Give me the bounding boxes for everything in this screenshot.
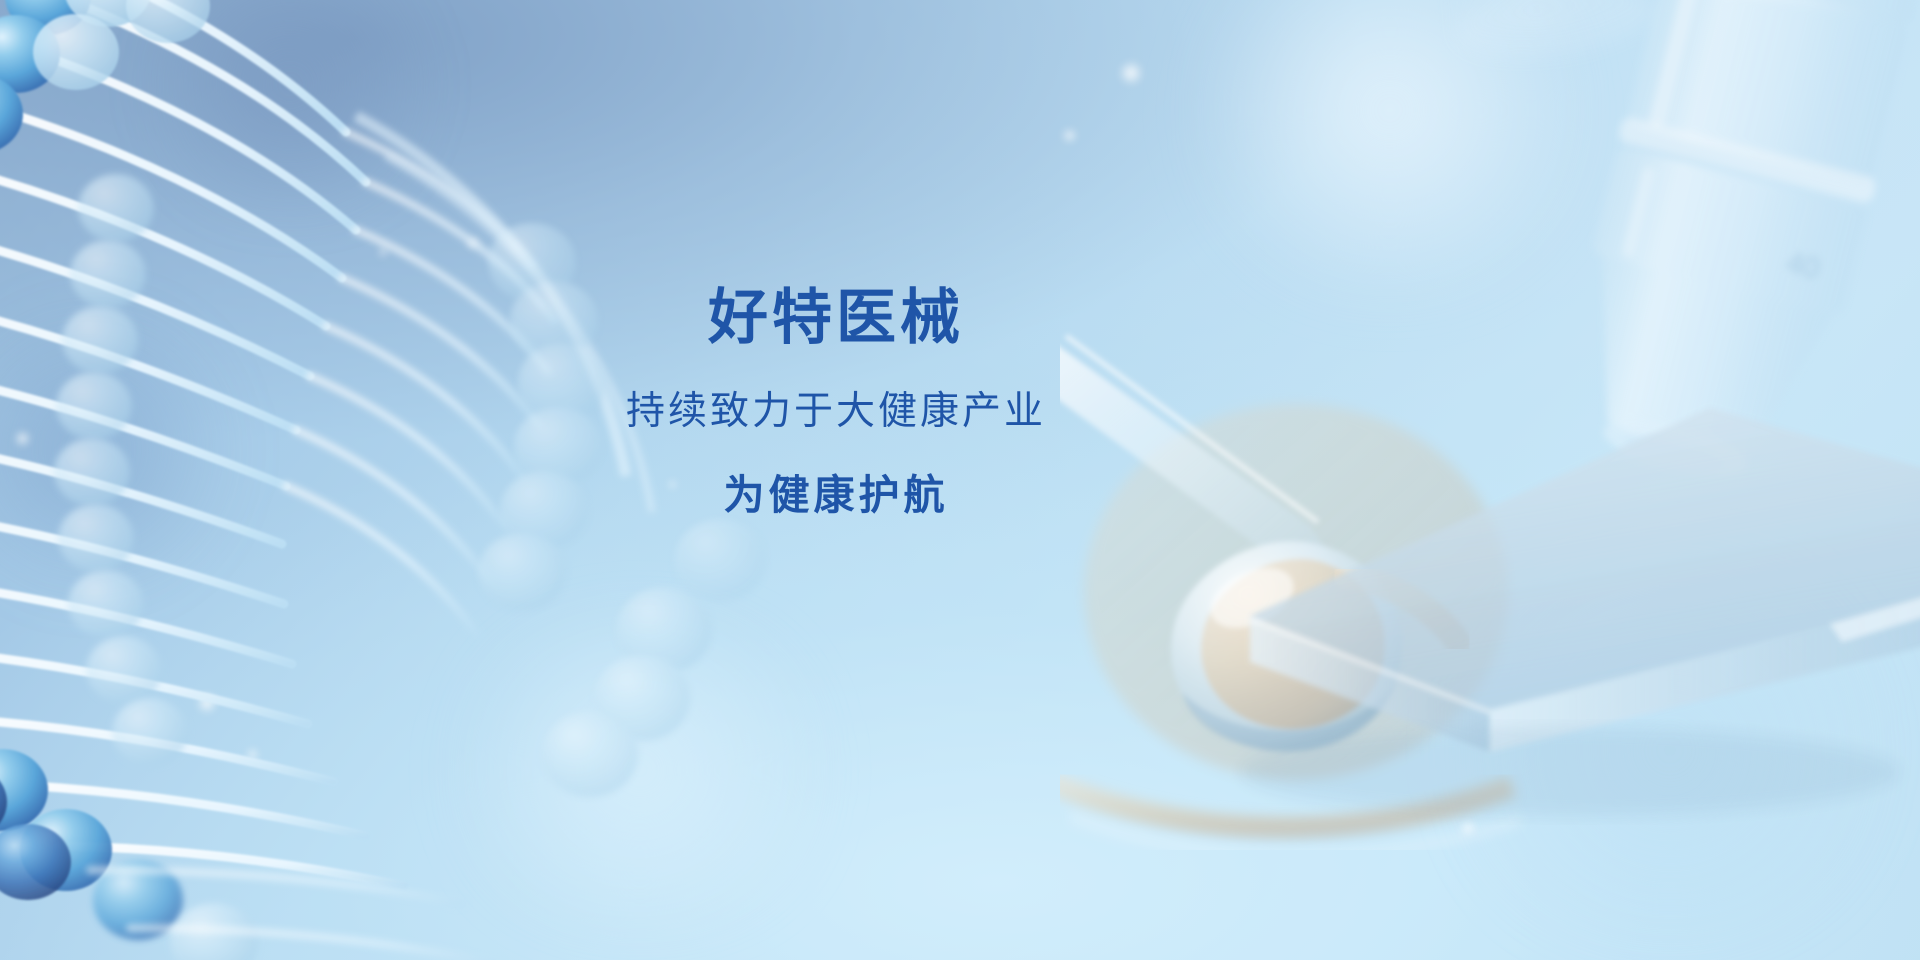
banner-subtitle: 持续致力于大健康产业 [626, 391, 1046, 434]
hero-banner: 40 [0, 0, 1920, 960]
banner-slogan: 为健康护航 [724, 473, 949, 518]
laboratory-glassware-icon [1060, 330, 1530, 850]
bokeh-speck [1062, 128, 1077, 143]
dna-helix-icon [0, 0, 790, 960]
bokeh-speck [378, 247, 388, 257]
background-glow-bottom [430, 620, 850, 920]
background-glow-top-right [1180, 0, 1600, 290]
bokeh-speck [466, 236, 480, 250]
background-glow-right [1430, 560, 1910, 940]
banner-title: 好特医械 [708, 286, 964, 350]
background-glow-left [0, 300, 240, 600]
bokeh-speck [246, 748, 259, 761]
banner-copy: 好特医械 持续致力于大健康产业 为健康护航 [0, 286, 1796, 519]
bokeh-speck [668, 480, 677, 489]
bokeh-speck [1118, 60, 1144, 86]
microscope-magnification-label: 40 [1783, 246, 1823, 286]
bokeh-speck [14, 430, 31, 447]
bokeh-speck [196, 692, 218, 714]
lab-bench-icon [1190, 380, 1920, 830]
bokeh-speck [1460, 820, 1476, 836]
background-glow-top-left [120, 0, 460, 210]
microscope-icon: 40 [1400, 0, 1920, 560]
